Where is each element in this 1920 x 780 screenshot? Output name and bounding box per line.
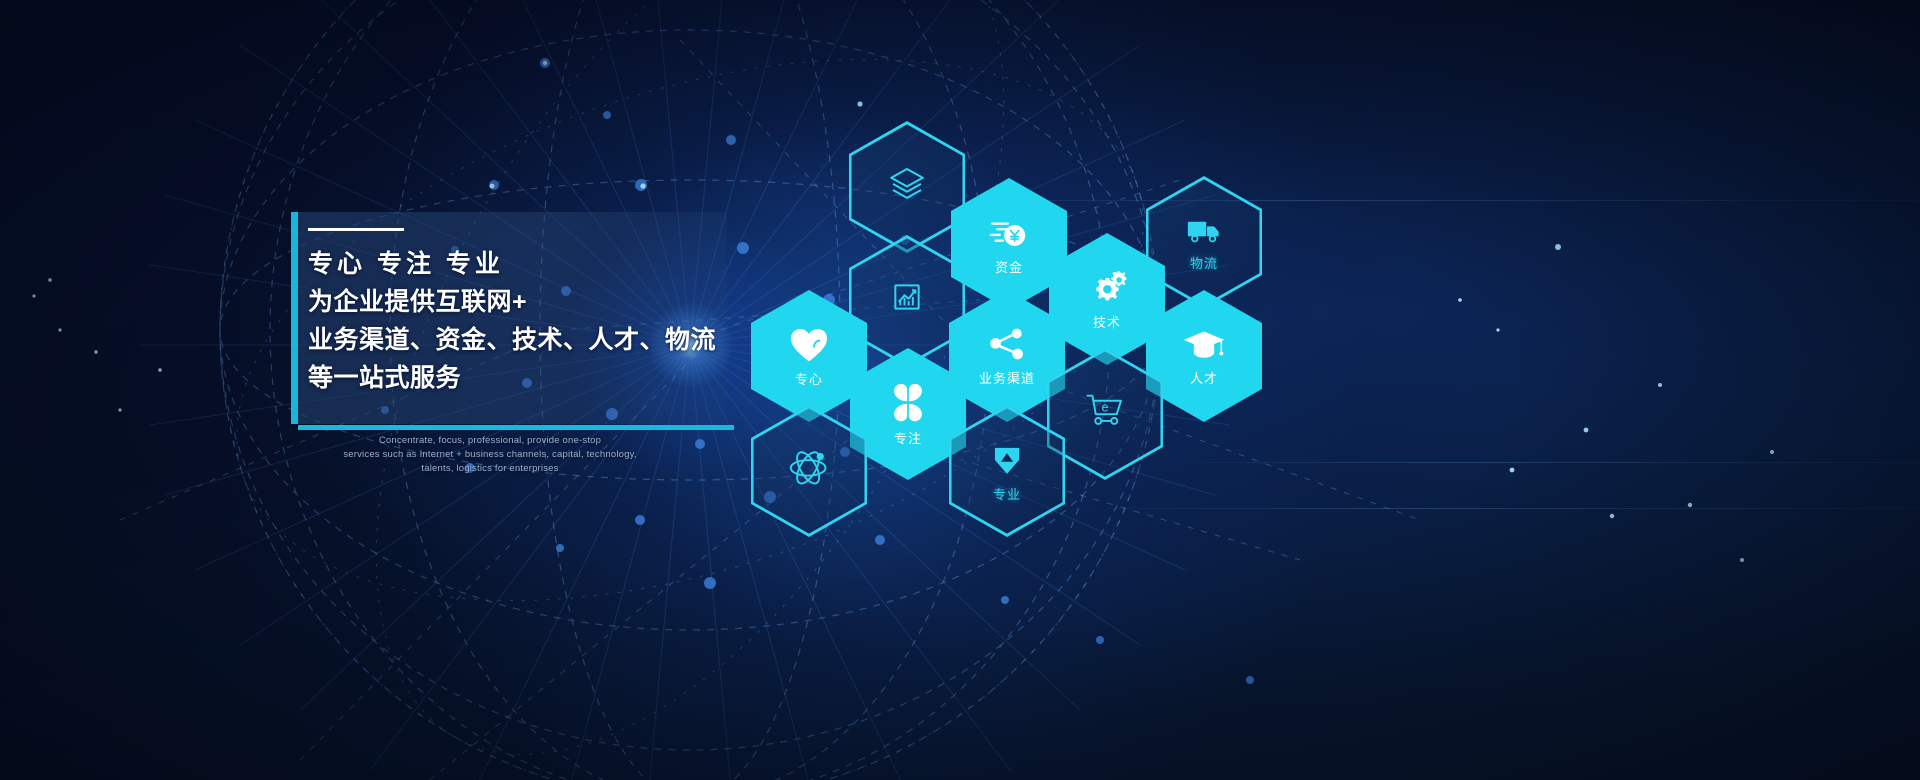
hex-label: 业务渠道 <box>979 372 1035 385</box>
gears-icon <box>1087 269 1127 312</box>
hex-layers[interactable] <box>849 121 965 253</box>
truck-icon <box>1184 214 1224 253</box>
hex-label: 专业 <box>993 488 1021 501</box>
diamond-icon <box>988 441 1026 484</box>
hex-professional[interactable]: 专业 <box>949 405 1065 537</box>
hex-label: 资金 <box>995 261 1023 274</box>
heart-icon <box>788 326 830 369</box>
ecommerce-cart-icon: e <box>1084 391 1126 434</box>
svg-text:e: e <box>1101 400 1108 414</box>
graduation-cap-icon <box>1182 327 1226 368</box>
hex-label: 专心 <box>795 373 823 386</box>
chart-growth-icon <box>887 277 927 322</box>
clover-icon <box>888 383 928 428</box>
yen-coin-icon <box>988 214 1030 257</box>
hex-label: 物流 <box>1190 257 1218 270</box>
hex-label: 人才 <box>1190 372 1218 385</box>
hex-talent[interactable]: 人才 <box>1146 290 1262 422</box>
atom-icon <box>787 447 831 492</box>
share-nodes-icon <box>987 327 1027 368</box>
layers-icon <box>886 162 928 209</box>
hex-label: 专注 <box>894 432 922 445</box>
hero-banner: 专心 专注 专业 为企业提供互联网+ 业务渠道、资金、技术、人才、物流 等一站式… <box>0 0 1920 780</box>
hex-science[interactable] <box>751 405 867 537</box>
hexagon-grid: 资金 物流 <box>0 0 1920 780</box>
hex-label: 技术 <box>1093 316 1121 329</box>
